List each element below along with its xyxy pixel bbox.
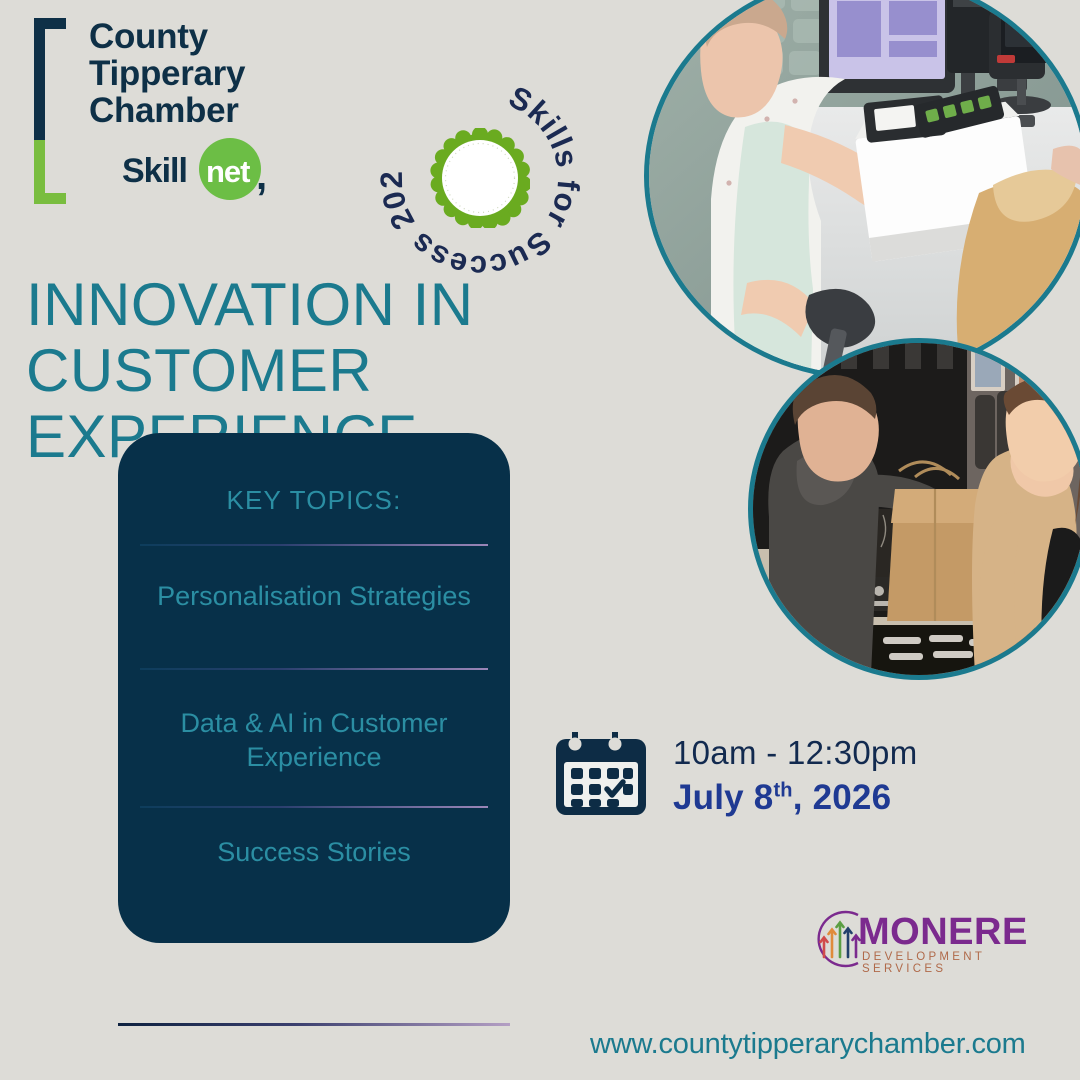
topic-divider bbox=[140, 806, 488, 808]
skillnet-logo: Skill net , bbox=[122, 138, 287, 200]
chamber-logo-text: County Tipperary Chamber bbox=[89, 18, 245, 129]
topic-divider bbox=[140, 544, 488, 546]
key-topics-panel: KEY TOPICS: Personalisation Strategies D… bbox=[118, 433, 510, 943]
skillnet-logo-skill-text: Skill bbox=[122, 152, 187, 191]
topic-divider bbox=[140, 668, 488, 670]
skillnet-logo-comma: , bbox=[256, 154, 267, 199]
monere-logo-tagline: DEVELOPMENT SERVICES bbox=[862, 951, 1056, 975]
key-topics-heading: KEY TOPICS: bbox=[118, 485, 510, 516]
event-date-ordinal: th bbox=[773, 779, 792, 801]
event-date-year: , 2026 bbox=[793, 778, 892, 817]
skills-for-success-badge: Skills for Success 2026 bbox=[380, 78, 580, 278]
footer-website-url[interactable]: www.countytipperarychamber.com bbox=[590, 1028, 1026, 1061]
chamber-name-line1: County bbox=[89, 18, 245, 55]
page-title-line1: INNOVATION IN bbox=[26, 272, 746, 338]
monere-logo-name: MONERE bbox=[858, 911, 1028, 954]
key-topic-item-2: Data & AI in Customer Experience bbox=[132, 706, 496, 774]
chamber-name-line2: Tipperary bbox=[89, 55, 245, 92]
bracket-icon bbox=[34, 18, 74, 204]
event-date: July 8th, 2026 bbox=[673, 778, 891, 818]
event-date-monthday: July 8 bbox=[673, 778, 773, 817]
poster-canvas: County Tipperary Chamber Skill net , Ski… bbox=[0, 0, 1080, 1080]
event-time: 10am - 12:30pm bbox=[673, 734, 918, 772]
monere-development-services-logo: MONERE DEVELOPMENT SERVICES bbox=[806, 905, 1056, 977]
skillnet-logo-net-text: net bbox=[206, 154, 250, 190]
key-topic-item-3: Success Stories bbox=[132, 835, 496, 869]
chamber-name-line3: Chamber bbox=[89, 92, 245, 129]
retail-handover-photo bbox=[748, 338, 1080, 680]
key-topic-item-1: Personalisation Strategies bbox=[132, 579, 496, 613]
calendar-check-icon bbox=[553, 726, 649, 818]
event-datetime-block: 10am - 12:30pm July 8th, 2026 bbox=[553, 722, 953, 822]
footer-divider bbox=[118, 1023, 510, 1026]
scalloped-circle-icon bbox=[430, 128, 530, 228]
